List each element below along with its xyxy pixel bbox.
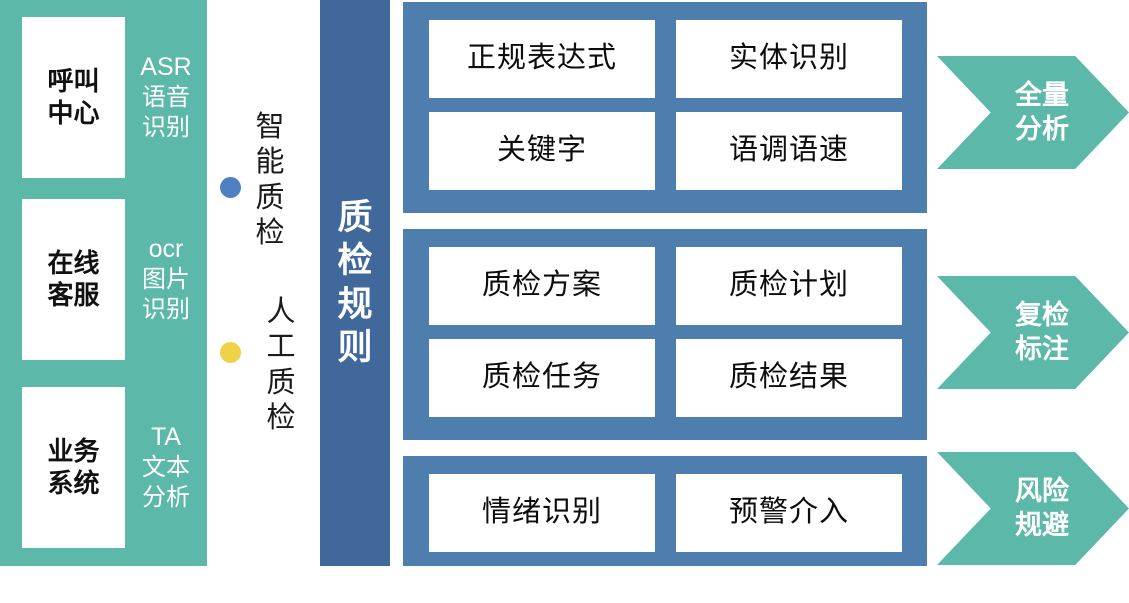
- source-tech-business-system: TA 文本分析: [131, 387, 201, 548]
- cell-label: 质检任务: [482, 362, 602, 394]
- alerting-group: 情绪识别 预警介入: [403, 456, 927, 566]
- source-tech-online-service: ocr 图片识别: [131, 199, 201, 360]
- outcome-label: 风险规避: [1015, 475, 1069, 542]
- method-label-manual: 人工质检: [263, 295, 299, 437]
- cell-label: 关键字: [497, 135, 587, 167]
- rule-engine-group: 正规表达式 实体识别 关键字 语调语速: [403, 2, 927, 213]
- source-box-label: 呼叫中心: [46, 66, 102, 129]
- source-box-label: 在线客服: [46, 248, 102, 311]
- source-box-business-system[interactable]: 业务系统: [22, 387, 125, 548]
- cell-label: 语调语速: [729, 135, 849, 167]
- source-tech-desc: 文本分析: [141, 453, 191, 513]
- source-box-label: 业务系统: [46, 436, 102, 499]
- outcome-chevron-full-analysis[interactable]: 全量分析: [937, 56, 1129, 169]
- cell-keyword[interactable]: 关键字: [429, 112, 655, 190]
- cell-label: 预警介入: [729, 497, 849, 529]
- source-tech-name: ASR: [140, 52, 191, 84]
- cell-intonation-speed[interactable]: 语调语速: [676, 112, 902, 190]
- outcome-label: 复检标注: [1015, 299, 1069, 366]
- inspection-method-column: 智能质检 人工质检: [208, 0, 318, 566]
- outcome-label: 全量分析: [1015, 79, 1069, 146]
- source-tech-desc: 图片识别: [141, 265, 191, 325]
- source-tech-call-center: ASR 语音识别: [131, 17, 201, 178]
- source-tech-name: ocr: [149, 234, 184, 266]
- source-tech-desc: 语音识别: [141, 83, 191, 143]
- source-tech-name: TA: [151, 422, 181, 454]
- cell-label: 实体识别: [729, 43, 849, 75]
- data-source-panel: 呼叫中心 ASR 语音识别 在线客服 ocr 图片识别 业务系统 TA 文本分析: [0, 0, 207, 566]
- bullet-dot-smart-icon: [220, 177, 241, 198]
- cell-label: 正规表达式: [467, 43, 617, 75]
- outcome-chevron-risk-avoidance[interactable]: 风险规避: [937, 452, 1129, 565]
- cell-alert-intervention[interactable]: 预警介入: [676, 474, 902, 552]
- cell-inspection-plan[interactable]: 质检计划: [676, 247, 902, 325]
- cell-inspection-task[interactable]: 质检任务: [429, 339, 655, 417]
- cell-inspection-plan-scheme[interactable]: 质检方案: [429, 247, 655, 325]
- cell-label: 质检计划: [729, 270, 849, 302]
- quality-rules-bar-label: 质检规则: [335, 196, 375, 370]
- cell-emotion-recognition[interactable]: 情绪识别: [429, 474, 655, 552]
- source-box-online-service[interactable]: 在线客服: [22, 199, 125, 360]
- method-label-smart: 智能质检: [252, 110, 288, 252]
- quality-rules-bar[interactable]: 质检规则: [320, 0, 390, 566]
- inspection-flow-group: 质检方案 质检计划 质检任务 质检结果: [403, 229, 927, 440]
- outcome-chevron-recheck-annotation[interactable]: 复检标注: [937, 276, 1129, 389]
- cell-label: 质检方案: [482, 270, 602, 302]
- bullet-dot-manual-icon: [220, 342, 241, 363]
- diagram-canvas: 呼叫中心 ASR 语音识别 在线客服 ocr 图片识别 业务系统 TA 文本分析…: [0, 0, 1129, 603]
- source-box-call-center[interactable]: 呼叫中心: [22, 17, 125, 178]
- cell-entity-recognition[interactable]: 实体识别: [676, 20, 902, 98]
- cell-regex[interactable]: 正规表达式: [429, 20, 655, 98]
- cell-label: 情绪识别: [482, 497, 602, 529]
- cell-inspection-result[interactable]: 质检结果: [676, 339, 902, 417]
- cell-label: 质检结果: [729, 362, 849, 394]
